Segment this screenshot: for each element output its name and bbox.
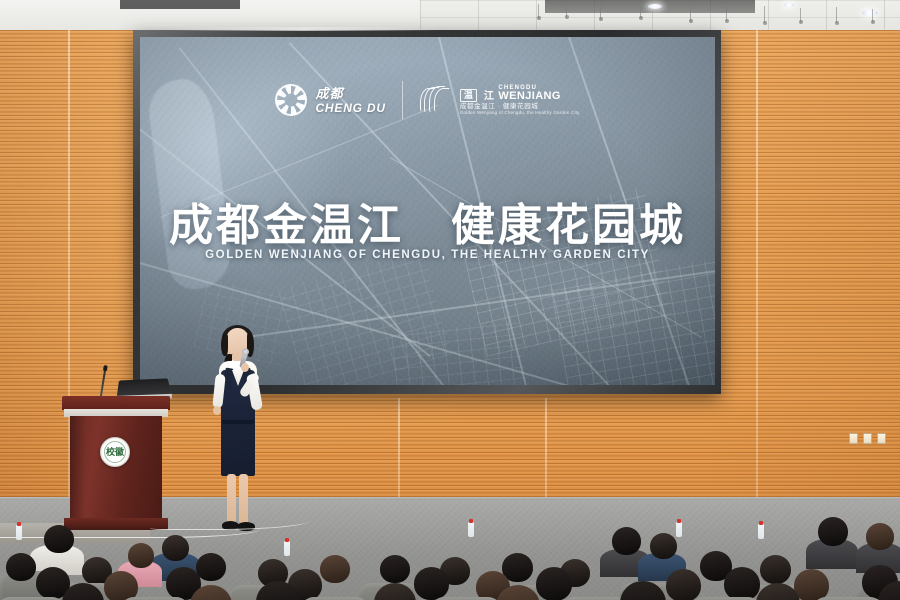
ceiling-hanger [538,4,539,18]
chengdu-logo-text: 成都 CHENG DU [315,87,385,114]
wall-switch-icon[interactable] [849,433,858,444]
seated-audience [0,505,900,600]
wenjiang-wave-icon [419,85,453,115]
chengdu-logo-english: CHENG DU [315,102,385,114]
chengdu-logo: 成都 CHENG DU [275,84,385,116]
wenjiang-logo-top-row: 温 江 CHENGDU WENJIANG [460,85,580,102]
wenjiang-logo: 温 江 CHENGDU WENJIANG 成都金温江 · 健康花园城 Golde… [419,85,580,116]
audience-head [818,517,848,546]
audience-head [794,569,829,600]
audience-head [6,553,36,581]
wood-panel-seam [398,398,400,510]
presenter-hand-left [213,406,221,415]
water-bottle [284,541,290,556]
chengdu-logo-chinese: 成都 [315,87,385,100]
ceiling-hanger [872,9,873,22]
wenjiang-english-big: WENJIANG [498,91,560,102]
wenjiang-english-block: CHENGDU WENJIANG [498,85,560,102]
wall-switch-icon[interactable] [863,433,872,444]
ceiling-hanger [600,4,601,19]
slide-logo-row: 成都 CHENG DU 温 江 [140,81,715,119]
podium-top-surface [62,396,170,410]
water-bottle [676,522,682,537]
audience-head [724,567,760,600]
logo-divider [402,81,403,119]
ceiling-hanger [690,5,691,21]
audience-head [44,525,74,553]
wood-panel-seam [545,398,547,510]
water-bottle [16,525,22,540]
audience-head [414,567,449,600]
ceiling-light-icon [648,4,662,9]
ceiling-hanger [800,8,801,22]
ceiling-dark-recess-left [120,0,240,9]
audience-head [650,533,677,559]
ceiling-light-icon [862,10,878,16]
emblem-glyph: 校徽 [106,448,124,457]
audience-head [666,569,701,600]
audience-head [380,555,410,583]
audience-head [536,567,572,600]
slide-title: 成都金温江 健康花园城 [140,189,715,253]
audience-head [760,555,791,584]
presenter-hand-right [241,363,249,372]
wenjiang-badge-jiang: 江 [484,92,495,102]
slide-subtitle: GOLDEN WENJIANG OF CHENGDU, THE HEALTHY … [140,249,715,261]
emblem-ring: 校徽 [104,441,126,463]
presenter-waistline [222,420,254,424]
audience-head [320,555,350,583]
audience-head [162,535,189,561]
sunbird-circle-icon [275,84,307,116]
ceiling-hanger [836,7,837,23]
wenjiang-subtitle-english: Golden Wenjiang of Chengdu, the Healthy … [460,111,580,116]
institution-emblem-icon: 校徽 [100,437,130,467]
audience-head [866,523,894,550]
auditorium-scene: 成都 CHENG DU 温 江 [0,0,900,600]
audience-head [128,543,154,568]
wenjiang-badge-wen: 温 [460,89,477,102]
wall-switch-panel[interactable] [849,433,886,444]
presenter-hair-left [221,334,228,356]
wenjiang-logo-text: 温 江 CHENGDU WENJIANG 成都金温江 · 健康花园城 Golde… [460,85,580,116]
ceiling-light-icon [784,3,794,7]
audience-head [612,527,641,555]
ceiling-hanger [764,6,765,23]
ceiling-hanger [726,7,727,21]
ceiling-hanger [640,6,641,18]
water-bottle [468,522,474,537]
water-bottle [758,524,764,539]
wood-panel-seam [756,30,758,510]
audience-head [196,553,226,581]
ceiling-hanger [566,5,567,17]
wall-switch-icon[interactable] [877,433,886,444]
audience-head [104,571,138,600]
